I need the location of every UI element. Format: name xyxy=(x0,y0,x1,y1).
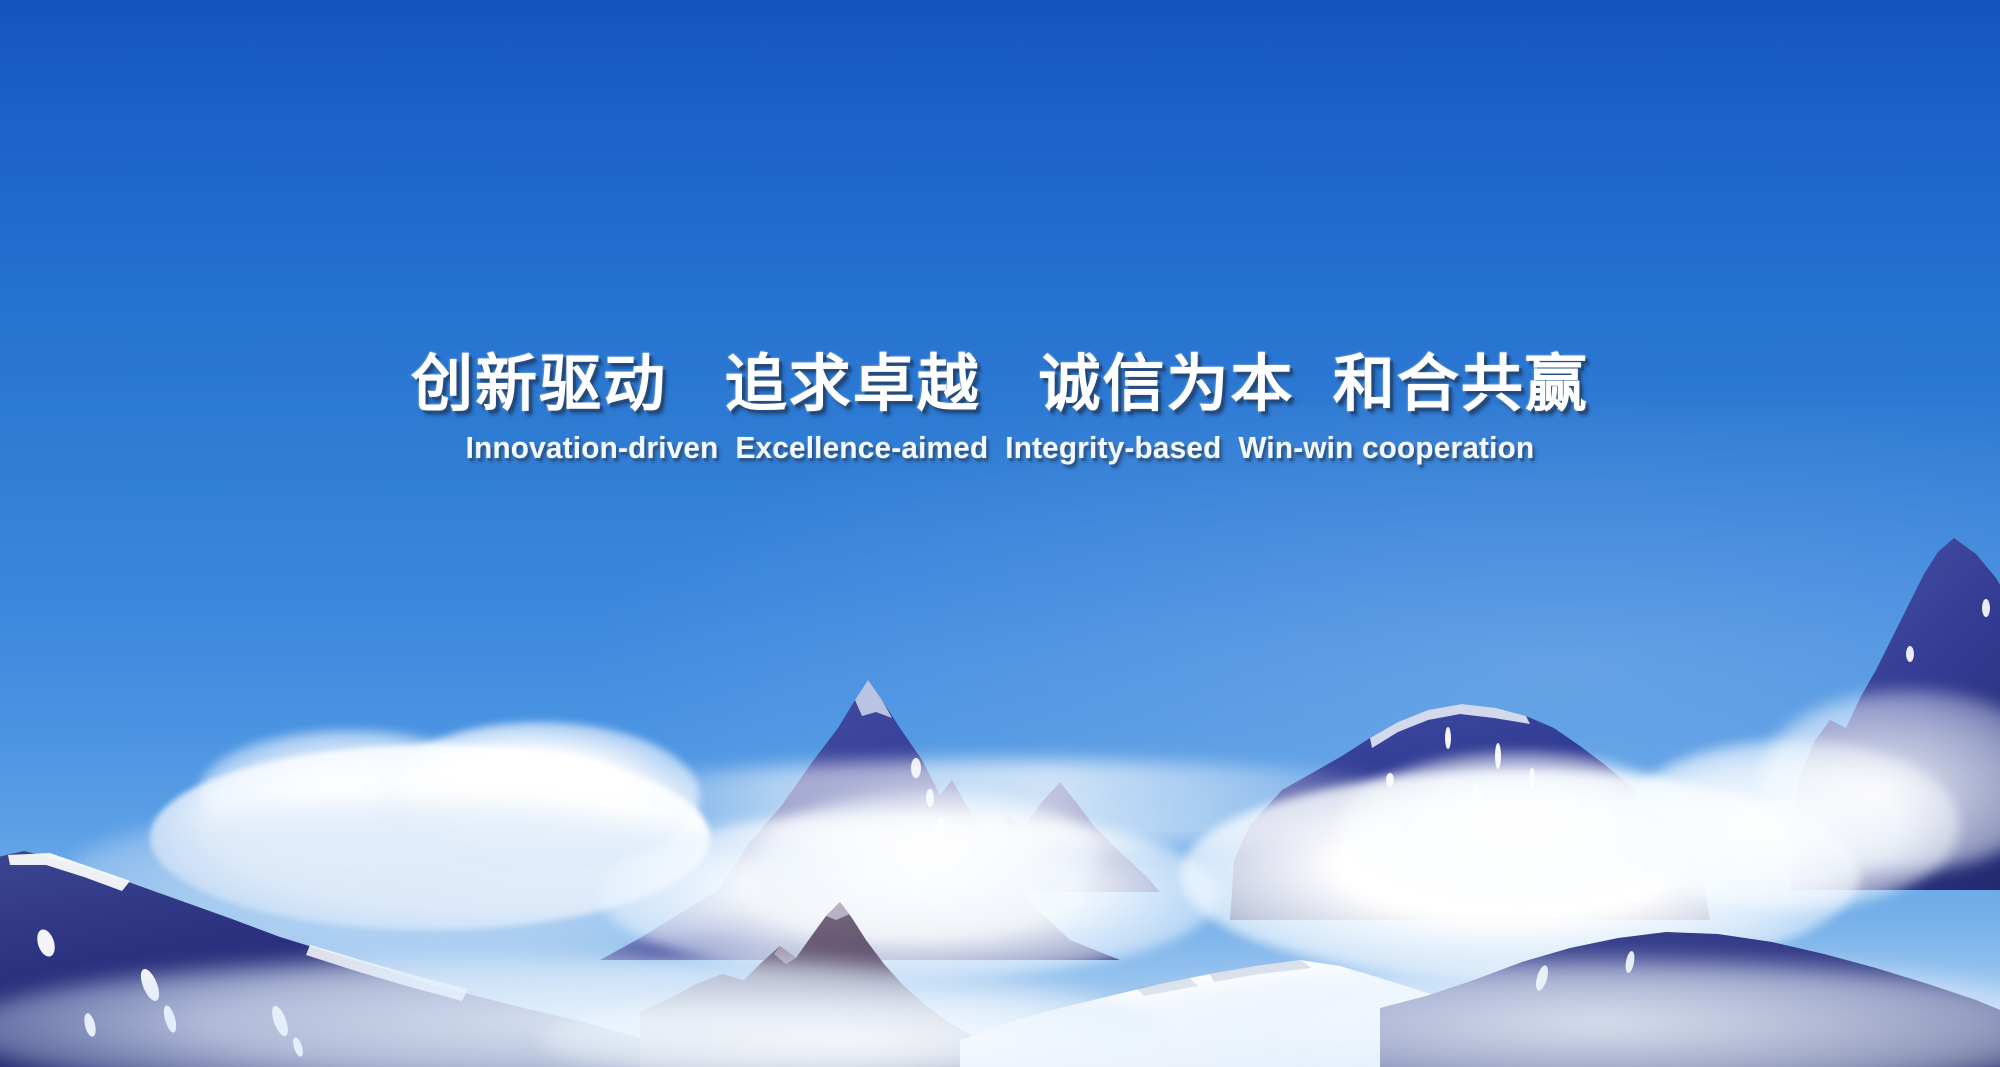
sky-background xyxy=(0,0,2000,1067)
hero-banner: 创新驱动 追求卓越 诚信为本 和合共赢 Innovation-driven Ex… xyxy=(0,0,2000,1067)
